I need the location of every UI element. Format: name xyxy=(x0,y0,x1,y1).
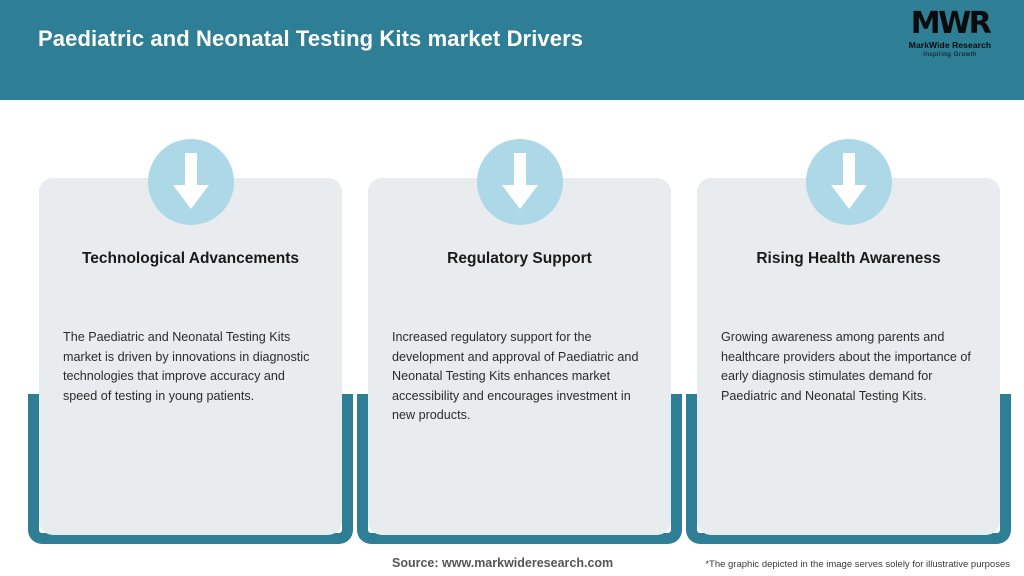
down-arrow-icon xyxy=(806,139,892,225)
logo-tagline: Inspiring Growth xyxy=(898,50,1002,59)
logo-monogram-icon: MWR xyxy=(898,8,1002,40)
logo-company-name: MarkWide Research xyxy=(898,40,1002,50)
driver-card-body: Increased regulatory support for the dev… xyxy=(392,328,651,426)
driver-card-body: The Paediatric and Neonatal Testing Kits… xyxy=(63,328,322,406)
driver-card: Regulatory Support Increased regulatory … xyxy=(368,178,671,535)
driver-card-heading: Technological Advancements xyxy=(39,250,342,268)
driver-card: Rising Health Awareness Growing awarenes… xyxy=(697,178,1000,535)
source-label: Source: www.markwideresearch.com xyxy=(392,556,613,570)
down-arrow-icon xyxy=(477,139,563,225)
down-arrow-icon xyxy=(148,139,234,225)
disclaimer-label: *The graphic depicted in the image serve… xyxy=(705,559,1010,570)
page-title: Paediatric and Neonatal Testing Kits mar… xyxy=(38,26,583,52)
slide-canvas: Paediatric and Neonatal Testing Kits mar… xyxy=(0,0,1024,576)
driver-card-heading: Rising Health Awareness xyxy=(697,250,1000,268)
brand-logo: MWR MarkWide Research Inspiring Growth xyxy=(898,8,1002,64)
driver-card-body: Growing awareness among parents and heal… xyxy=(721,328,980,406)
driver-card: Technological Advancements The Paediatri… xyxy=(39,178,342,535)
driver-card-heading: Regulatory Support xyxy=(368,250,671,268)
header-band: Paediatric and Neonatal Testing Kits mar… xyxy=(0,0,1024,100)
